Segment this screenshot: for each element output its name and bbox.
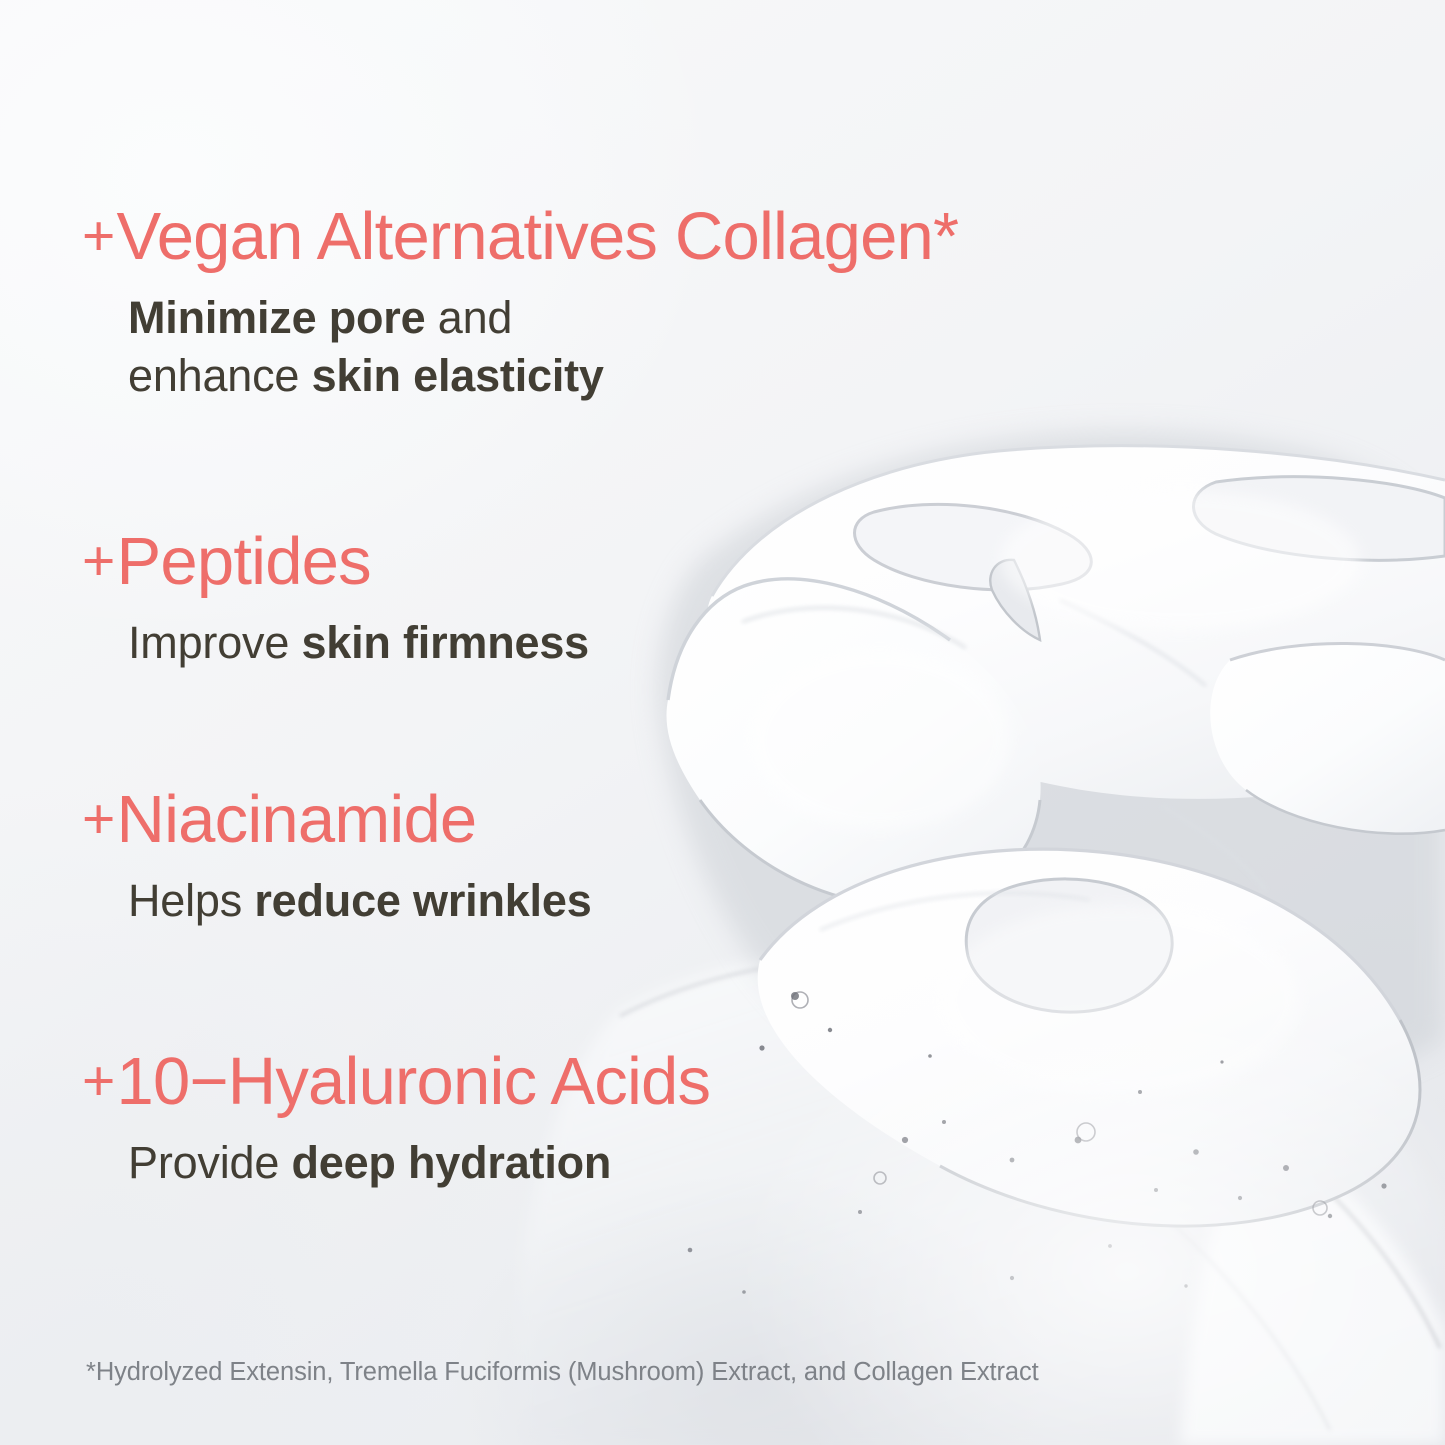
feature-title-3: +10−Hyaluronic Acids [82, 1048, 710, 1115]
feature-title-text-1: Peptides [117, 524, 371, 599]
plus-icon-2: + [82, 791, 115, 848]
feature-desc-strong-1-0: skin firmness [301, 617, 589, 668]
feature-list: +Vegan Alternatives Collagen* Minimize p… [0, 0, 1445, 1445]
feature-title-text-3: 10−Hyaluronic Acids [117, 1044, 711, 1119]
feature-desc-line-0-1: enhance skin elasticity [82, 347, 958, 405]
feature-title-0: +Vegan Alternatives Collagen* [82, 203, 958, 270]
feature-desc-plain-3-0: Provide [128, 1137, 291, 1188]
feature-desc-line-1-0: Improve skin firmness [82, 614, 589, 672]
feature-title-1: +Peptides [82, 528, 589, 595]
plus-icon-1: + [82, 533, 115, 590]
product-feature-poster: +Vegan Alternatives Collagen* Minimize p… [0, 0, 1445, 1445]
feature-block-hyaluronic-acids: +10−Hyaluronic Acids Provide deep hydrat… [82, 1048, 710, 1192]
feature-desc-line-2-0: Helps reduce wrinkles [82, 872, 592, 930]
feature-block-peptides: +Peptides Improve skin firmness [82, 528, 589, 672]
feature-desc-plain-1-0: Improve [128, 617, 301, 668]
feature-desc-plain-0-0: and [425, 292, 512, 343]
feature-desc-plain-2-0: Helps [128, 875, 254, 926]
plus-icon-3: + [82, 1053, 115, 1110]
feature-desc-strong-0-1: skin elasticity [312, 350, 604, 401]
feature-title-2: +Niacinamide [82, 786, 592, 853]
feature-block-vegan-collagen: +Vegan Alternatives Collagen* Minimize p… [82, 203, 958, 404]
ingredient-footnote: *Hydrolyzed Extensin, Tremella Fuciformi… [86, 1357, 1039, 1388]
feature-desc-strong-2-0: reduce wrinkles [254, 875, 591, 926]
feature-desc-strong-3-0: deep hydration [291, 1137, 611, 1188]
feature-desc-line-0-0: Minimize pore and [82, 289, 958, 347]
feature-desc-strong-0-0: Minimize pore [128, 292, 425, 343]
feature-desc-plain-0-1: enhance [128, 350, 312, 401]
feature-block-niacinamide: +Niacinamide Helps reduce wrinkles [82, 786, 592, 930]
plus-icon-0: + [82, 208, 115, 265]
feature-title-text-0: Vegan Alternatives Collagen* [117, 199, 959, 274]
feature-title-text-2: Niacinamide [117, 782, 477, 857]
feature-desc-line-3-0: Provide deep hydration [82, 1134, 710, 1192]
